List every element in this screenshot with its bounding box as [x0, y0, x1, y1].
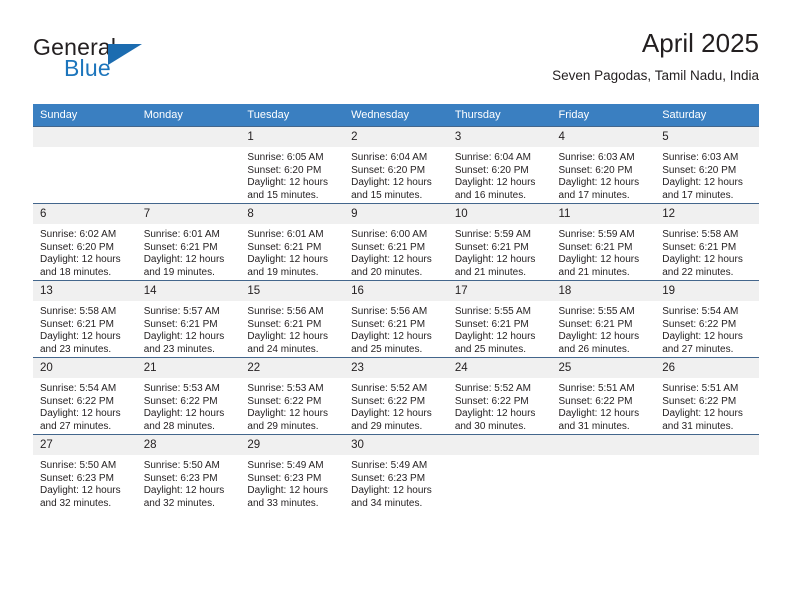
page-header: General Blue April 2025 Seven Pagodas, T…: [33, 28, 759, 94]
day-number: 11: [552, 204, 656, 224]
sunset-time: Sunset: 6:21 PM: [351, 242, 442, 255]
daylight-duration-line2: and 16 minutes.: [455, 190, 546, 203]
calendar-day-cell-empty: [448, 435, 552, 512]
sunset-time: Sunset: 6:22 PM: [662, 396, 753, 409]
sunset-time: Sunset: 6:22 PM: [455, 396, 546, 409]
calendar-day-cell[interactable]: 24Sunrise: 5:52 AMSunset: 6:22 PMDayligh…: [448, 358, 552, 435]
daylight-duration-line2: and 29 minutes.: [351, 421, 442, 434]
sunrise-time: Sunrise: 5:56 AM: [351, 306, 442, 319]
weekday-header-wednesday: Wednesday: [344, 104, 448, 127]
sunset-time: Sunset: 6:20 PM: [662, 165, 753, 178]
daylight-duration-line1: Daylight: 12 hours: [455, 177, 546, 190]
day-details: Sunrise: 5:59 AMSunset: 6:21 PMDaylight:…: [552, 224, 656, 279]
day-number: 15: [240, 281, 344, 301]
sunrise-time: Sunrise: 6:04 AM: [351, 152, 442, 165]
calendar-day-cell-empty: [655, 435, 759, 512]
day-number: 14: [137, 281, 241, 301]
sunset-time: Sunset: 6:23 PM: [144, 473, 235, 486]
day-details: Sunrise: 5:52 AMSunset: 6:22 PMDaylight:…: [448, 378, 552, 433]
calendar-day-cell[interactable]: 9Sunrise: 6:00 AMSunset: 6:21 PMDaylight…: [344, 204, 448, 281]
sunset-time: Sunset: 6:23 PM: [247, 473, 338, 486]
day-number: 13: [33, 281, 137, 301]
sunrise-time: Sunrise: 5:52 AM: [351, 383, 442, 396]
daylight-duration-line2: and 15 minutes.: [351, 190, 442, 203]
triangle-flag-icon: [108, 44, 142, 65]
day-number: 7: [137, 204, 241, 224]
calendar-week-row: 13Sunrise: 5:58 AMSunset: 6:21 PMDayligh…: [33, 281, 759, 358]
day-number: 4: [552, 127, 656, 147]
daylight-duration-line1: Daylight: 12 hours: [351, 254, 442, 267]
day-number: 2: [344, 127, 448, 147]
sunrise-time: Sunrise: 5:51 AM: [559, 383, 650, 396]
daylight-duration-line1: Daylight: 12 hours: [144, 254, 235, 267]
day-number: 19: [655, 281, 759, 301]
daylight-duration-line1: Daylight: 12 hours: [455, 331, 546, 344]
daylight-duration-line2: and 25 minutes.: [455, 344, 546, 357]
daylight-duration-line2: and 15 minutes.: [247, 190, 338, 203]
daylight-duration-line2: and 26 minutes.: [559, 344, 650, 357]
calendar-week-row: 20Sunrise: 5:54 AMSunset: 6:22 PMDayligh…: [33, 358, 759, 435]
sunrise-time: Sunrise: 6:00 AM: [351, 229, 442, 242]
day-details: Sunrise: 5:59 AMSunset: 6:21 PMDaylight:…: [448, 224, 552, 279]
daylight-duration-line2: and 31 minutes.: [559, 421, 650, 434]
daylight-duration-line2: and 32 minutes.: [144, 498, 235, 511]
daylight-duration-line1: Daylight: 12 hours: [559, 408, 650, 421]
daylight-duration-line1: Daylight: 12 hours: [144, 331, 235, 344]
sunset-time: Sunset: 6:22 PM: [247, 396, 338, 409]
calendar-day-cell[interactable]: 28Sunrise: 5:50 AMSunset: 6:23 PMDayligh…: [137, 435, 241, 512]
daylight-duration-line2: and 17 minutes.: [662, 190, 753, 203]
day-details: Sunrise: 5:52 AMSunset: 6:22 PMDaylight:…: [344, 378, 448, 433]
calendar-day-cell[interactable]: 21Sunrise: 5:53 AMSunset: 6:22 PMDayligh…: [137, 358, 241, 435]
daylight-duration-line2: and 27 minutes.: [40, 421, 131, 434]
sunset-time: Sunset: 6:22 PM: [351, 396, 442, 409]
sunrise-time: Sunrise: 5:49 AM: [351, 460, 442, 473]
daylight-duration-line2: and 33 minutes.: [247, 498, 338, 511]
day-details: Sunrise: 6:02 AMSunset: 6:20 PMDaylight:…: [33, 224, 137, 279]
calendar-day-cell[interactable]: 7Sunrise: 6:01 AMSunset: 6:21 PMDaylight…: [137, 204, 241, 281]
sunset-time: Sunset: 6:21 PM: [144, 319, 235, 332]
sunset-time: Sunset: 6:21 PM: [662, 242, 753, 255]
day-details: Sunrise: 5:55 AMSunset: 6:21 PMDaylight:…: [448, 301, 552, 356]
daylight-duration-line2: and 22 minutes.: [662, 267, 753, 280]
day-details: Sunrise: 6:01 AMSunset: 6:21 PMDaylight:…: [137, 224, 241, 279]
daylight-duration-line1: Daylight: 12 hours: [662, 177, 753, 190]
calendar-day-cell[interactable]: 25Sunrise: 5:51 AMSunset: 6:22 PMDayligh…: [552, 358, 656, 435]
day-number: 25: [552, 358, 656, 378]
sunrise-time: Sunrise: 5:54 AM: [662, 306, 753, 319]
daylight-duration-line2: and 30 minutes.: [455, 421, 546, 434]
sunrise-time: Sunrise: 6:03 AM: [662, 152, 753, 165]
sunrise-time: Sunrise: 5:56 AM: [247, 306, 338, 319]
daylight-duration-line1: Daylight: 12 hours: [351, 408, 442, 421]
day-number: 27: [33, 435, 137, 455]
page-title: April 2025: [552, 28, 759, 58]
day-number: 16: [344, 281, 448, 301]
sunrise-time: Sunrise: 5:58 AM: [662, 229, 753, 242]
daylight-duration-line1: Daylight: 12 hours: [40, 254, 131, 267]
day-details: Sunrise: 5:53 AMSunset: 6:22 PMDaylight:…: [137, 378, 241, 433]
sunset-time: Sunset: 6:21 PM: [559, 242, 650, 255]
sunset-time: Sunset: 6:20 PM: [40, 242, 131, 255]
calendar-header-row: Sunday Monday Tuesday Wednesday Thursday…: [33, 104, 759, 127]
sunset-time: Sunset: 6:21 PM: [559, 319, 650, 332]
day-number: 12: [655, 204, 759, 224]
daylight-duration-line1: Daylight: 12 hours: [351, 331, 442, 344]
sunrise-time: Sunrise: 5:52 AM: [455, 383, 546, 396]
weekday-header-monday: Monday: [137, 104, 241, 127]
daylight-duration-line1: Daylight: 12 hours: [247, 485, 338, 498]
day-number: [655, 435, 759, 455]
calendar-day-cell[interactable]: 16Sunrise: 5:56 AMSunset: 6:21 PMDayligh…: [344, 281, 448, 358]
calendar-day-cell[interactable]: 10Sunrise: 5:59 AMSunset: 6:21 PMDayligh…: [448, 204, 552, 281]
sunrise-time: Sunrise: 5:55 AM: [455, 306, 546, 319]
calendar-day-cell[interactable]: 4Sunrise: 6:03 AMSunset: 6:20 PMDaylight…: [552, 127, 656, 204]
day-details: Sunrise: 5:53 AMSunset: 6:22 PMDaylight:…: [240, 378, 344, 433]
day-details: Sunrise: 6:05 AMSunset: 6:20 PMDaylight:…: [240, 147, 344, 202]
sunrise-time: Sunrise: 5:57 AM: [144, 306, 235, 319]
daylight-duration-line2: and 21 minutes.: [559, 267, 650, 280]
day-number: 8: [240, 204, 344, 224]
sunrise-time: Sunrise: 5:54 AM: [40, 383, 131, 396]
weekday-header-thursday: Thursday: [448, 104, 552, 127]
day-number: 5: [655, 127, 759, 147]
day-number: 18: [552, 281, 656, 301]
sunrise-time: Sunrise: 5:59 AM: [559, 229, 650, 242]
daylight-duration-line1: Daylight: 12 hours: [144, 408, 235, 421]
daylight-duration-line2: and 31 minutes.: [662, 421, 753, 434]
day-details: Sunrise: 5:57 AMSunset: 6:21 PMDaylight:…: [137, 301, 241, 356]
daylight-duration-line2: and 34 minutes.: [351, 498, 442, 511]
brand-logo[interactable]: General Blue: [33, 34, 163, 86]
sunrise-time: Sunrise: 5:53 AM: [247, 383, 338, 396]
calendar-day-cell[interactable]: 20Sunrise: 5:54 AMSunset: 6:22 PMDayligh…: [33, 358, 137, 435]
calendar-week-row: 1Sunrise: 6:05 AMSunset: 6:20 PMDaylight…: [33, 127, 759, 204]
calendar-day-cell[interactable]: 19Sunrise: 5:54 AMSunset: 6:22 PMDayligh…: [655, 281, 759, 358]
page-subtitle: Seven Pagodas, Tamil Nadu, India: [552, 66, 759, 86]
sunset-time: Sunset: 6:21 PM: [144, 242, 235, 255]
daylight-duration-line1: Daylight: 12 hours: [351, 485, 442, 498]
sunrise-time: Sunrise: 6:02 AM: [40, 229, 131, 242]
daylight-duration-line2: and 25 minutes.: [351, 344, 442, 357]
sunset-time: Sunset: 6:21 PM: [247, 242, 338, 255]
day-number: 9: [344, 204, 448, 224]
sunset-time: Sunset: 6:22 PM: [559, 396, 650, 409]
sunset-time: Sunset: 6:20 PM: [351, 165, 442, 178]
sunset-time: Sunset: 6:20 PM: [559, 165, 650, 178]
daylight-duration-line2: and 28 minutes.: [144, 421, 235, 434]
day-details: Sunrise: 5:58 AMSunset: 6:21 PMDaylight:…: [33, 301, 137, 356]
sunrise-time: Sunrise: 5:59 AM: [455, 229, 546, 242]
calendar-day-cell[interactable]: 27Sunrise: 5:50 AMSunset: 6:23 PMDayligh…: [33, 435, 137, 512]
daylight-duration-line1: Daylight: 12 hours: [559, 177, 650, 190]
daylight-duration-line1: Daylight: 12 hours: [247, 177, 338, 190]
day-number: 30: [344, 435, 448, 455]
sunset-time: Sunset: 6:21 PM: [455, 319, 546, 332]
daylight-duration-line1: Daylight: 12 hours: [247, 408, 338, 421]
daylight-duration-line2: and 20 minutes.: [351, 267, 442, 280]
daylight-duration-line1: Daylight: 12 hours: [559, 331, 650, 344]
daylight-duration-line1: Daylight: 12 hours: [455, 408, 546, 421]
daylight-duration-line2: and 17 minutes.: [559, 190, 650, 203]
calendar-day-cell[interactable]: 3Sunrise: 6:04 AMSunset: 6:20 PMDaylight…: [448, 127, 552, 204]
sunset-time: Sunset: 6:22 PM: [662, 319, 753, 332]
sunset-time: Sunset: 6:23 PM: [351, 473, 442, 486]
sunrise-time: Sunrise: 5:50 AM: [144, 460, 235, 473]
daylight-duration-line2: and 32 minutes.: [40, 498, 131, 511]
sunrise-time: Sunrise: 5:58 AM: [40, 306, 131, 319]
calendar-day-cell[interactable]: 6Sunrise: 6:02 AMSunset: 6:20 PMDaylight…: [33, 204, 137, 281]
day-details: Sunrise: 5:54 AMSunset: 6:22 PMDaylight:…: [33, 378, 137, 433]
calendar-day-cell-empty: [137, 127, 241, 204]
day-number: 28: [137, 435, 241, 455]
calendar-day-cell[interactable]: 22Sunrise: 5:53 AMSunset: 6:22 PMDayligh…: [240, 358, 344, 435]
day-details: Sunrise: 5:49 AMSunset: 6:23 PMDaylight:…: [240, 455, 344, 510]
calendar-week-row: 27Sunrise: 5:50 AMSunset: 6:23 PMDayligh…: [33, 435, 759, 512]
calendar-day-cell[interactable]: 18Sunrise: 5:55 AMSunset: 6:21 PMDayligh…: [552, 281, 656, 358]
sunset-time: Sunset: 6:22 PM: [144, 396, 235, 409]
daylight-duration-line2: and 19 minutes.: [247, 267, 338, 280]
day-details: Sunrise: 6:04 AMSunset: 6:20 PMDaylight:…: [448, 147, 552, 202]
calendar-body: 1Sunrise: 6:05 AMSunset: 6:20 PMDaylight…: [33, 127, 759, 512]
day-details: Sunrise: 5:49 AMSunset: 6:23 PMDaylight:…: [344, 455, 448, 510]
daylight-duration-line2: and 23 minutes.: [40, 344, 131, 357]
calendar-day-cell-empty: [33, 127, 137, 204]
calendar-page: General Blue April 2025 Seven Pagodas, T…: [0, 0, 792, 612]
sunrise-time: Sunrise: 6:01 AM: [144, 229, 235, 242]
brand-name-blue: Blue: [64, 55, 111, 82]
day-details: Sunrise: 6:01 AMSunset: 6:21 PMDaylight:…: [240, 224, 344, 279]
day-details: Sunrise: 5:50 AMSunset: 6:23 PMDaylight:…: [33, 455, 137, 510]
day-details: Sunrise: 5:54 AMSunset: 6:22 PMDaylight:…: [655, 301, 759, 356]
day-details: Sunrise: 5:56 AMSunset: 6:21 PMDaylight:…: [240, 301, 344, 356]
calendar-week-row: 6Sunrise: 6:02 AMSunset: 6:20 PMDaylight…: [33, 204, 759, 281]
daylight-duration-line1: Daylight: 12 hours: [40, 485, 131, 498]
calendar-day-cell[interactable]: 12Sunrise: 5:58 AMSunset: 6:21 PMDayligh…: [655, 204, 759, 281]
calendar-day-cell[interactable]: 1Sunrise: 6:05 AMSunset: 6:20 PMDaylight…: [240, 127, 344, 204]
calendar-day-cell[interactable]: 5Sunrise: 6:03 AMSunset: 6:20 PMDaylight…: [655, 127, 759, 204]
day-number: 10: [448, 204, 552, 224]
day-number: 20: [33, 358, 137, 378]
calendar-grid: Sunday Monday Tuesday Wednesday Thursday…: [33, 104, 759, 511]
sunset-time: Sunset: 6:21 PM: [247, 319, 338, 332]
calendar-day-cell[interactable]: 23Sunrise: 5:52 AMSunset: 6:22 PMDayligh…: [344, 358, 448, 435]
calendar-day-cell[interactable]: 2Sunrise: 6:04 AMSunset: 6:20 PMDaylight…: [344, 127, 448, 204]
calendar-day-cell[interactable]: 13Sunrise: 5:58 AMSunset: 6:21 PMDayligh…: [33, 281, 137, 358]
weekday-header-sunday: Sunday: [33, 104, 137, 127]
day-details: Sunrise: 5:50 AMSunset: 6:23 PMDaylight:…: [137, 455, 241, 510]
sunset-time: Sunset: 6:20 PM: [247, 165, 338, 178]
weekday-header-saturday: Saturday: [655, 104, 759, 127]
daylight-duration-line2: and 29 minutes.: [247, 421, 338, 434]
calendar-day-cell[interactable]: 29Sunrise: 5:49 AMSunset: 6:23 PMDayligh…: [240, 435, 344, 512]
day-details: Sunrise: 5:51 AMSunset: 6:22 PMDaylight:…: [655, 378, 759, 433]
calendar-day-cell[interactable]: 17Sunrise: 5:55 AMSunset: 6:21 PMDayligh…: [448, 281, 552, 358]
daylight-duration-line2: and 21 minutes.: [455, 267, 546, 280]
daylight-duration-line1: Daylight: 12 hours: [662, 254, 753, 267]
daylight-duration-line1: Daylight: 12 hours: [40, 331, 131, 344]
daylight-duration-line1: Daylight: 12 hours: [662, 331, 753, 344]
day-number: [33, 127, 137, 147]
day-number: 17: [448, 281, 552, 301]
calendar-day-cell[interactable]: 14Sunrise: 5:57 AMSunset: 6:21 PMDayligh…: [137, 281, 241, 358]
sunrise-time: Sunrise: 5:51 AM: [662, 383, 753, 396]
day-details: Sunrise: 5:55 AMSunset: 6:21 PMDaylight:…: [552, 301, 656, 356]
day-details: Sunrise: 6:04 AMSunset: 6:20 PMDaylight:…: [344, 147, 448, 202]
day-details: Sunrise: 6:03 AMSunset: 6:20 PMDaylight:…: [552, 147, 656, 202]
day-details: Sunrise: 5:58 AMSunset: 6:21 PMDaylight:…: [655, 224, 759, 279]
calendar-day-cell[interactable]: 15Sunrise: 5:56 AMSunset: 6:21 PMDayligh…: [240, 281, 344, 358]
daylight-duration-line2: and 24 minutes.: [247, 344, 338, 357]
daylight-duration-line1: Daylight: 12 hours: [247, 254, 338, 267]
day-number: 23: [344, 358, 448, 378]
sunrise-time: Sunrise: 6:03 AM: [559, 152, 650, 165]
sunset-time: Sunset: 6:22 PM: [40, 396, 131, 409]
day-details: Sunrise: 5:56 AMSunset: 6:21 PMDaylight:…: [344, 301, 448, 356]
daylight-duration-line1: Daylight: 12 hours: [455, 254, 546, 267]
day-number: 1: [240, 127, 344, 147]
sunset-time: Sunset: 6:21 PM: [351, 319, 442, 332]
day-details: Sunrise: 5:51 AMSunset: 6:22 PMDaylight:…: [552, 378, 656, 433]
day-number: 21: [137, 358, 241, 378]
weekday-header-tuesday: Tuesday: [240, 104, 344, 127]
daylight-duration-line1: Daylight: 12 hours: [247, 331, 338, 344]
sunset-time: Sunset: 6:21 PM: [40, 319, 131, 332]
day-number: [448, 435, 552, 455]
calendar-day-cell[interactable]: 30Sunrise: 5:49 AMSunset: 6:23 PMDayligh…: [344, 435, 448, 512]
daylight-duration-line2: and 27 minutes.: [662, 344, 753, 357]
day-number: 29: [240, 435, 344, 455]
day-details: Sunrise: 6:00 AMSunset: 6:21 PMDaylight:…: [344, 224, 448, 279]
day-number: [137, 127, 241, 147]
daylight-duration-line1: Daylight: 12 hours: [351, 177, 442, 190]
day-number: [552, 435, 656, 455]
daylight-duration-line1: Daylight: 12 hours: [40, 408, 131, 421]
calendar-day-cell-empty: [552, 435, 656, 512]
day-number: 3: [448, 127, 552, 147]
daylight-duration-line1: Daylight: 12 hours: [662, 408, 753, 421]
day-number: 24: [448, 358, 552, 378]
sunrise-time: Sunrise: 6:01 AM: [247, 229, 338, 242]
daylight-duration-line1: Daylight: 12 hours: [144, 485, 235, 498]
sunset-time: Sunset: 6:23 PM: [40, 473, 131, 486]
weekday-header-friday: Friday: [552, 104, 656, 127]
sunrise-time: Sunrise: 5:55 AM: [559, 306, 650, 319]
day-number: 26: [655, 358, 759, 378]
sunrise-time: Sunrise: 6:04 AM: [455, 152, 546, 165]
title-block: April 2025 Seven Pagodas, Tamil Nadu, In…: [552, 28, 759, 86]
daylight-duration-line1: Daylight: 12 hours: [559, 254, 650, 267]
sunset-time: Sunset: 6:20 PM: [455, 165, 546, 178]
sunset-time: Sunset: 6:21 PM: [455, 242, 546, 255]
calendar-day-cell[interactable]: 8Sunrise: 6:01 AMSunset: 6:21 PMDaylight…: [240, 204, 344, 281]
daylight-duration-line2: and 18 minutes.: [40, 267, 131, 280]
daylight-duration-line2: and 23 minutes.: [144, 344, 235, 357]
daylight-duration-line2: and 19 minutes.: [144, 267, 235, 280]
day-number: 6: [33, 204, 137, 224]
day-details: Sunrise: 6:03 AMSunset: 6:20 PMDaylight:…: [655, 147, 759, 202]
sunrise-time: Sunrise: 5:50 AM: [40, 460, 131, 473]
calendar-day-cell[interactable]: 26Sunrise: 5:51 AMSunset: 6:22 PMDayligh…: [655, 358, 759, 435]
calendar-day-cell[interactable]: 11Sunrise: 5:59 AMSunset: 6:21 PMDayligh…: [552, 204, 656, 281]
sunrise-time: Sunrise: 5:49 AM: [247, 460, 338, 473]
day-number: 22: [240, 358, 344, 378]
sunrise-time: Sunrise: 5:53 AM: [144, 383, 235, 396]
sunrise-time: Sunrise: 6:05 AM: [247, 152, 338, 165]
